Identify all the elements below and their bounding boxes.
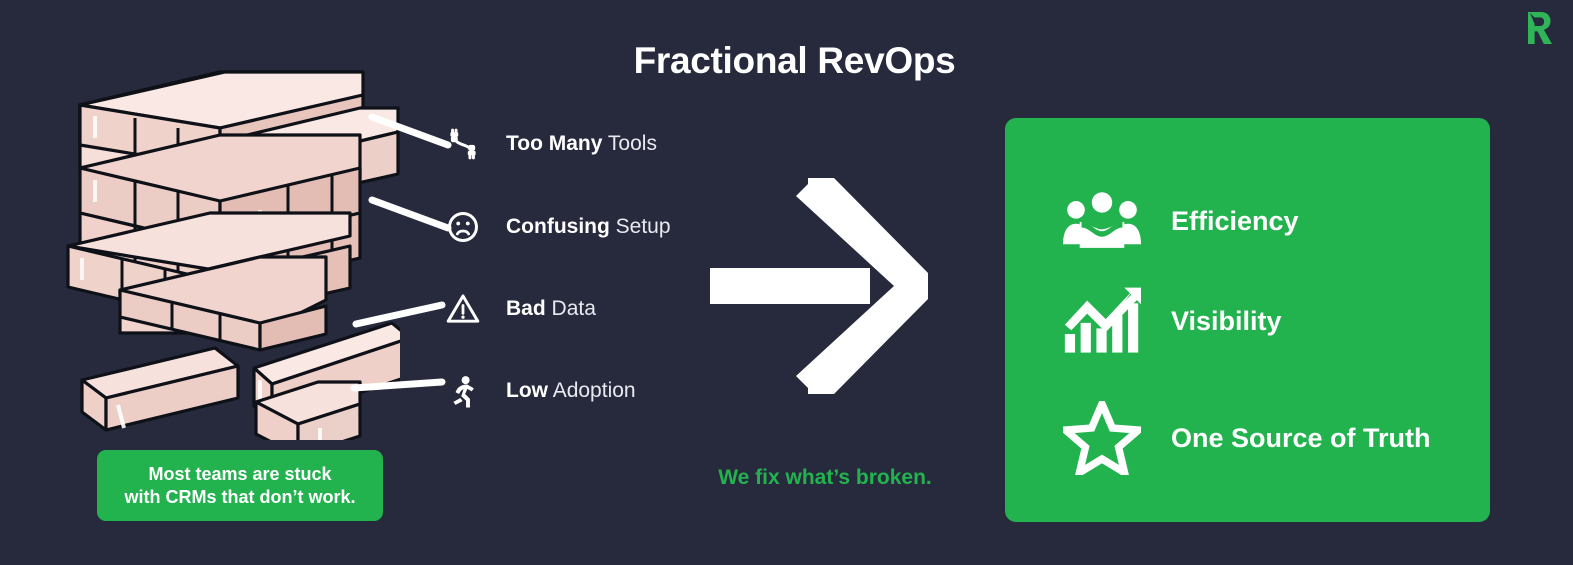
star-outline-icon [1063, 405, 1141, 471]
problem-item-bad-data: Bad Data [440, 281, 596, 337]
connector-line-4 [354, 382, 442, 388]
benefit-item-efficiency: Efficiency [1063, 186, 1299, 256]
growth-chart-icon [1063, 288, 1141, 354]
connector-line-1 [372, 117, 448, 145]
problem-label: Bad Data [506, 297, 596, 321]
benefit-label: One Source of Truth [1171, 423, 1431, 454]
problem-item-too-many-tools: Too Many Tools [440, 116, 657, 172]
warning-triangle-icon [440, 286, 486, 332]
stuck-badge-line-1: Most teams are stuck [148, 463, 331, 486]
problem-item-low-adoption: Low Adoption [440, 363, 636, 419]
sad-face-icon [440, 204, 486, 250]
transition-caption: We fix what’s broken. [700, 466, 950, 490]
problem-label: Confusing Setup [506, 215, 671, 239]
benefit-label: Visibility [1171, 306, 1282, 337]
right-arrow-icon [700, 170, 940, 402]
running-person-icon [440, 368, 486, 414]
problem-label-strong: Bad [506, 297, 546, 320]
connector-line-3 [356, 305, 442, 324]
infographic-canvas: Fractional RevOps [0, 0, 1573, 565]
problem-label: Low Adoption [506, 379, 636, 403]
team-group-icon [1063, 188, 1141, 254]
benefit-item-one-source-of-truth: One Source of Truth [1063, 403, 1431, 473]
benefits-card: Efficiency Visibility [1005, 118, 1490, 522]
problem-label-light: Setup [616, 215, 671, 238]
problem-label-light: Data [552, 297, 596, 320]
problem-label-strong: Confusing [506, 215, 610, 238]
status-badge-stuck: Most teams are stuck with CRMs that don’… [97, 450, 383, 521]
problem-label-strong: Too Many [506, 132, 602, 155]
benefit-item-visibility: Visibility [1063, 286, 1282, 356]
problem-label-strong: Low [506, 379, 548, 402]
problem-label: Too Many Tools [506, 132, 657, 156]
problem-label-light: Tools [608, 132, 657, 155]
benefit-label: Efficiency [1171, 206, 1299, 237]
plug-cable-icon [440, 121, 486, 167]
problem-label-light: Adoption [553, 379, 636, 402]
stuck-badge-line-2: with CRMs that don’t work. [125, 486, 356, 509]
connector-line-2 [372, 200, 448, 228]
page-title-text: Fractional RevOps [634, 40, 956, 81]
problem-item-confusing-setup: Confusing Setup [440, 199, 671, 255]
